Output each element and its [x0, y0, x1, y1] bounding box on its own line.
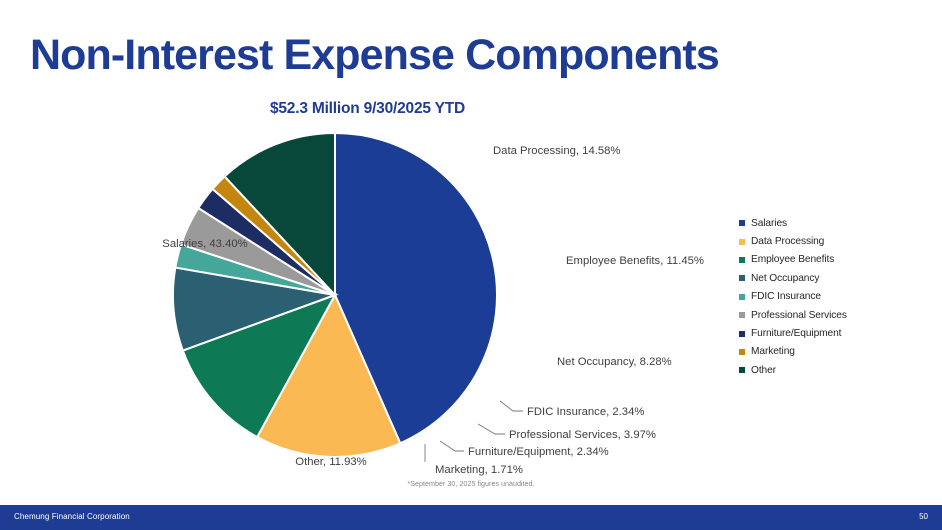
leader-line — [478, 424, 505, 434]
legend-item-label: Furniture/Equipment — [751, 328, 841, 339]
legend-item-label: Marketing — [751, 346, 795, 357]
footer-company-name: Chemung Financial Corporation — [14, 512, 130, 521]
pie-slice-label: Net Occupancy, 8.28% — [557, 356, 672, 368]
legend-item-label: Other — [751, 365, 776, 376]
page-title: Non-Interest Expense Components — [30, 31, 719, 80]
pie-slice-label: Employee Benefits, 11.45% — [566, 255, 704, 267]
pie-chart-svg: Salaries, 43.40%Data Processing, 14.58%E… — [0, 128, 735, 488]
legend-swatch-icon — [739, 257, 745, 263]
legend-item-label: Data Processing — [751, 236, 824, 247]
legend-item-label: Professional Services — [751, 310, 847, 321]
leader-line — [500, 401, 523, 411]
footer-bar: Chemung Financial Corporation 50 — [0, 505, 942, 530]
legend-swatch-icon — [739, 294, 745, 300]
legend-item-label: Net Occupancy — [751, 273, 819, 284]
legend-item[interactable]: FDIC Insurance — [739, 288, 919, 306]
legend-item[interactable]: Other — [739, 361, 919, 379]
pie-slice-label: Salaries, 43.40% — [162, 238, 247, 250]
legend-swatch-icon — [739, 312, 745, 318]
legend-swatch-icon — [739, 220, 745, 226]
pie-slices — [173, 133, 497, 457]
leader-line — [440, 441, 464, 451]
chart-subtitle: $52.3 Million 9/30/2025 YTD — [0, 100, 735, 118]
legend-item[interactable]: Professional Services — [739, 306, 919, 324]
pie-slice-label: Professional Services, 3.97% — [509, 429, 656, 441]
pie-slice-label: Marketing, 1.71% — [435, 464, 523, 476]
slide-canvas: Non-Interest Expense Components $52.3 Mi… — [0, 0, 942, 530]
legend-item[interactable]: Salaries — [739, 214, 919, 232]
legend-item[interactable]: Net Occupancy — [739, 269, 919, 287]
legend-item[interactable]: Data Processing — [739, 232, 919, 250]
legend-item-label: Employee Benefits — [751, 254, 834, 265]
pie-slice-label: Data Processing, 14.58% — [493, 145, 620, 157]
legend-swatch-icon — [739, 239, 745, 245]
legend-item[interactable]: Marketing — [739, 343, 919, 361]
legend-swatch-icon — [739, 275, 745, 281]
legend-swatch-icon — [739, 367, 745, 373]
chart-footnote: *September 30, 2025 figures unaudited. — [0, 479, 942, 488]
pie-chart: Salaries, 43.40%Data Processing, 14.58%E… — [0, 128, 735, 488]
legend-item-label: FDIC Insurance — [751, 291, 821, 302]
legend-item[interactable]: Furniture/Equipment — [739, 324, 919, 342]
pie-slice-label: Other, 11.93% — [295, 456, 366, 468]
legend-item[interactable]: Employee Benefits — [739, 251, 919, 269]
pie-slice-label: Furniture/Equipment, 2.34% — [468, 446, 609, 458]
legend-swatch-icon — [739, 331, 745, 337]
footer-page-number: 50 — [919, 512, 928, 521]
pie-slice-label: FDIC Insurance, 2.34% — [527, 406, 644, 418]
legend-swatch-icon — [739, 349, 745, 355]
chart-legend: SalariesData ProcessingEmployee Benefits… — [739, 214, 919, 380]
legend-item-label: Salaries — [751, 218, 787, 229]
